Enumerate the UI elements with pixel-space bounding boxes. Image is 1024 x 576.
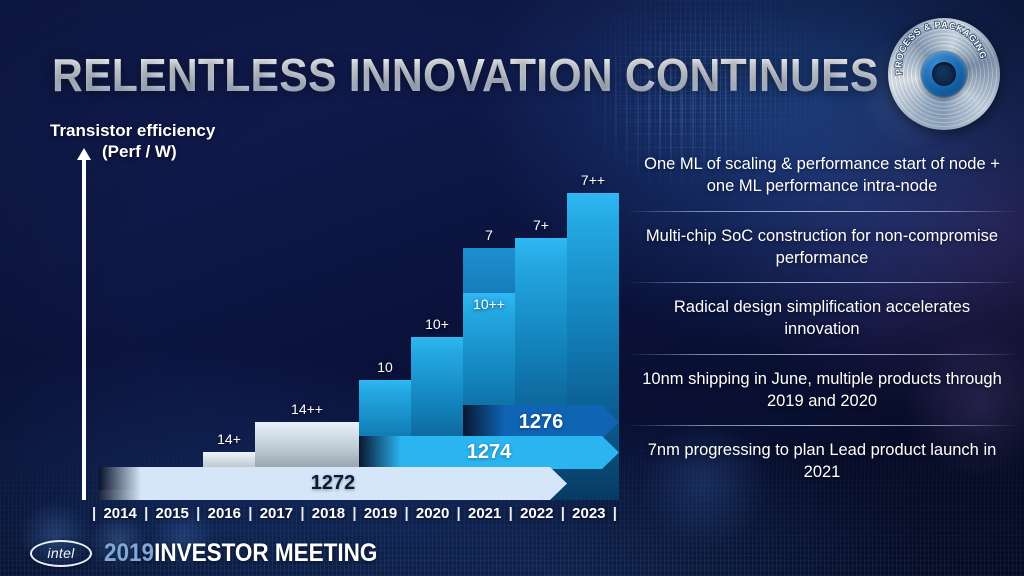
year-separator: | xyxy=(144,505,148,522)
badge-curved-text: PROCESS & PACKAGING xyxy=(888,18,1000,130)
year-label-2015: 2015 xyxy=(156,505,189,522)
year-separator: | xyxy=(352,505,356,522)
intel-logo: intel xyxy=(30,540,92,567)
bar-label: 10+ xyxy=(411,316,463,332)
year-separator: | xyxy=(404,505,408,522)
arrow-label: 1272 xyxy=(311,472,356,495)
bar-label: 14+ xyxy=(203,431,255,447)
year-label-2016: 2016 xyxy=(208,505,241,522)
footer-year: 2019 xyxy=(104,539,154,568)
year-separator: | xyxy=(613,505,617,522)
year-label-2019: 2019 xyxy=(364,505,397,522)
badge-text-path: PROCESS & PACKAGING xyxy=(893,20,988,76)
year-label-2020: 2020 xyxy=(416,505,449,522)
bar-label: 10 xyxy=(359,359,411,375)
year-label-2018: 2018 xyxy=(312,505,345,522)
year-separator: | xyxy=(561,505,565,522)
slide-root: Relentless Innovation Continues Transist… xyxy=(0,0,1024,576)
year-separator: | xyxy=(457,505,461,522)
milestone-arrow-1274: 1274 xyxy=(359,436,619,469)
footer-bar: intel 2019 INVESTOR MEETING xyxy=(30,538,408,568)
process-and-packaging-badge: PROCESS & PACKAGING xyxy=(888,18,1000,130)
intel-logo-text: intel xyxy=(47,545,74,561)
milestone-arrow-1276: 1276 xyxy=(463,405,619,439)
year-label-2017: 2017 xyxy=(260,505,293,522)
bullet-panel: One ML of scaling & performance start of… xyxy=(626,140,1018,497)
footer-label: INVESTOR MEETING xyxy=(154,539,377,568)
arrow-label: 1274 xyxy=(467,441,512,464)
year-label-2023: 2023 xyxy=(572,505,605,522)
panel-item-4: 10nm shipping in June, multiple products… xyxy=(626,355,1018,426)
panel-item-5: 7nm progressing to plan Lead product lau… xyxy=(626,426,1018,497)
year-label-2021: 2021 xyxy=(468,505,501,522)
milestone-arrow-1272: 1272 xyxy=(99,467,567,500)
bar-label: 10++ xyxy=(463,296,515,312)
year-separator: | xyxy=(300,505,304,522)
year-separator: | xyxy=(92,505,96,522)
year-label-2022: 2022 xyxy=(520,505,553,522)
x-axis-year-labels: |2014|2015|2016|2017|2018|2019|2020|2021… xyxy=(92,505,617,522)
bar-label: 7++ xyxy=(567,172,619,188)
footer-event-title: 2019 INVESTOR MEETING xyxy=(104,539,377,568)
badge-label: PROCESS & PACKAGING xyxy=(893,20,988,76)
year-separator: | xyxy=(509,505,513,522)
panel-item-2: Multi-chip SoC construction for non-comp… xyxy=(626,212,1018,283)
bar-label: 7+ xyxy=(515,217,567,233)
arrow-label: 1276 xyxy=(519,411,564,434)
panel-item-1: One ML of scaling & performance start of… xyxy=(626,140,1018,211)
year-label-2014: 2014 xyxy=(103,505,136,522)
bar-label: 7 xyxy=(463,227,515,243)
year-separator: | xyxy=(248,505,252,522)
panel-item-3: Radical design simplification accelerate… xyxy=(626,283,1018,354)
year-separator: | xyxy=(196,505,200,522)
bar-label: 14++ xyxy=(255,401,359,417)
